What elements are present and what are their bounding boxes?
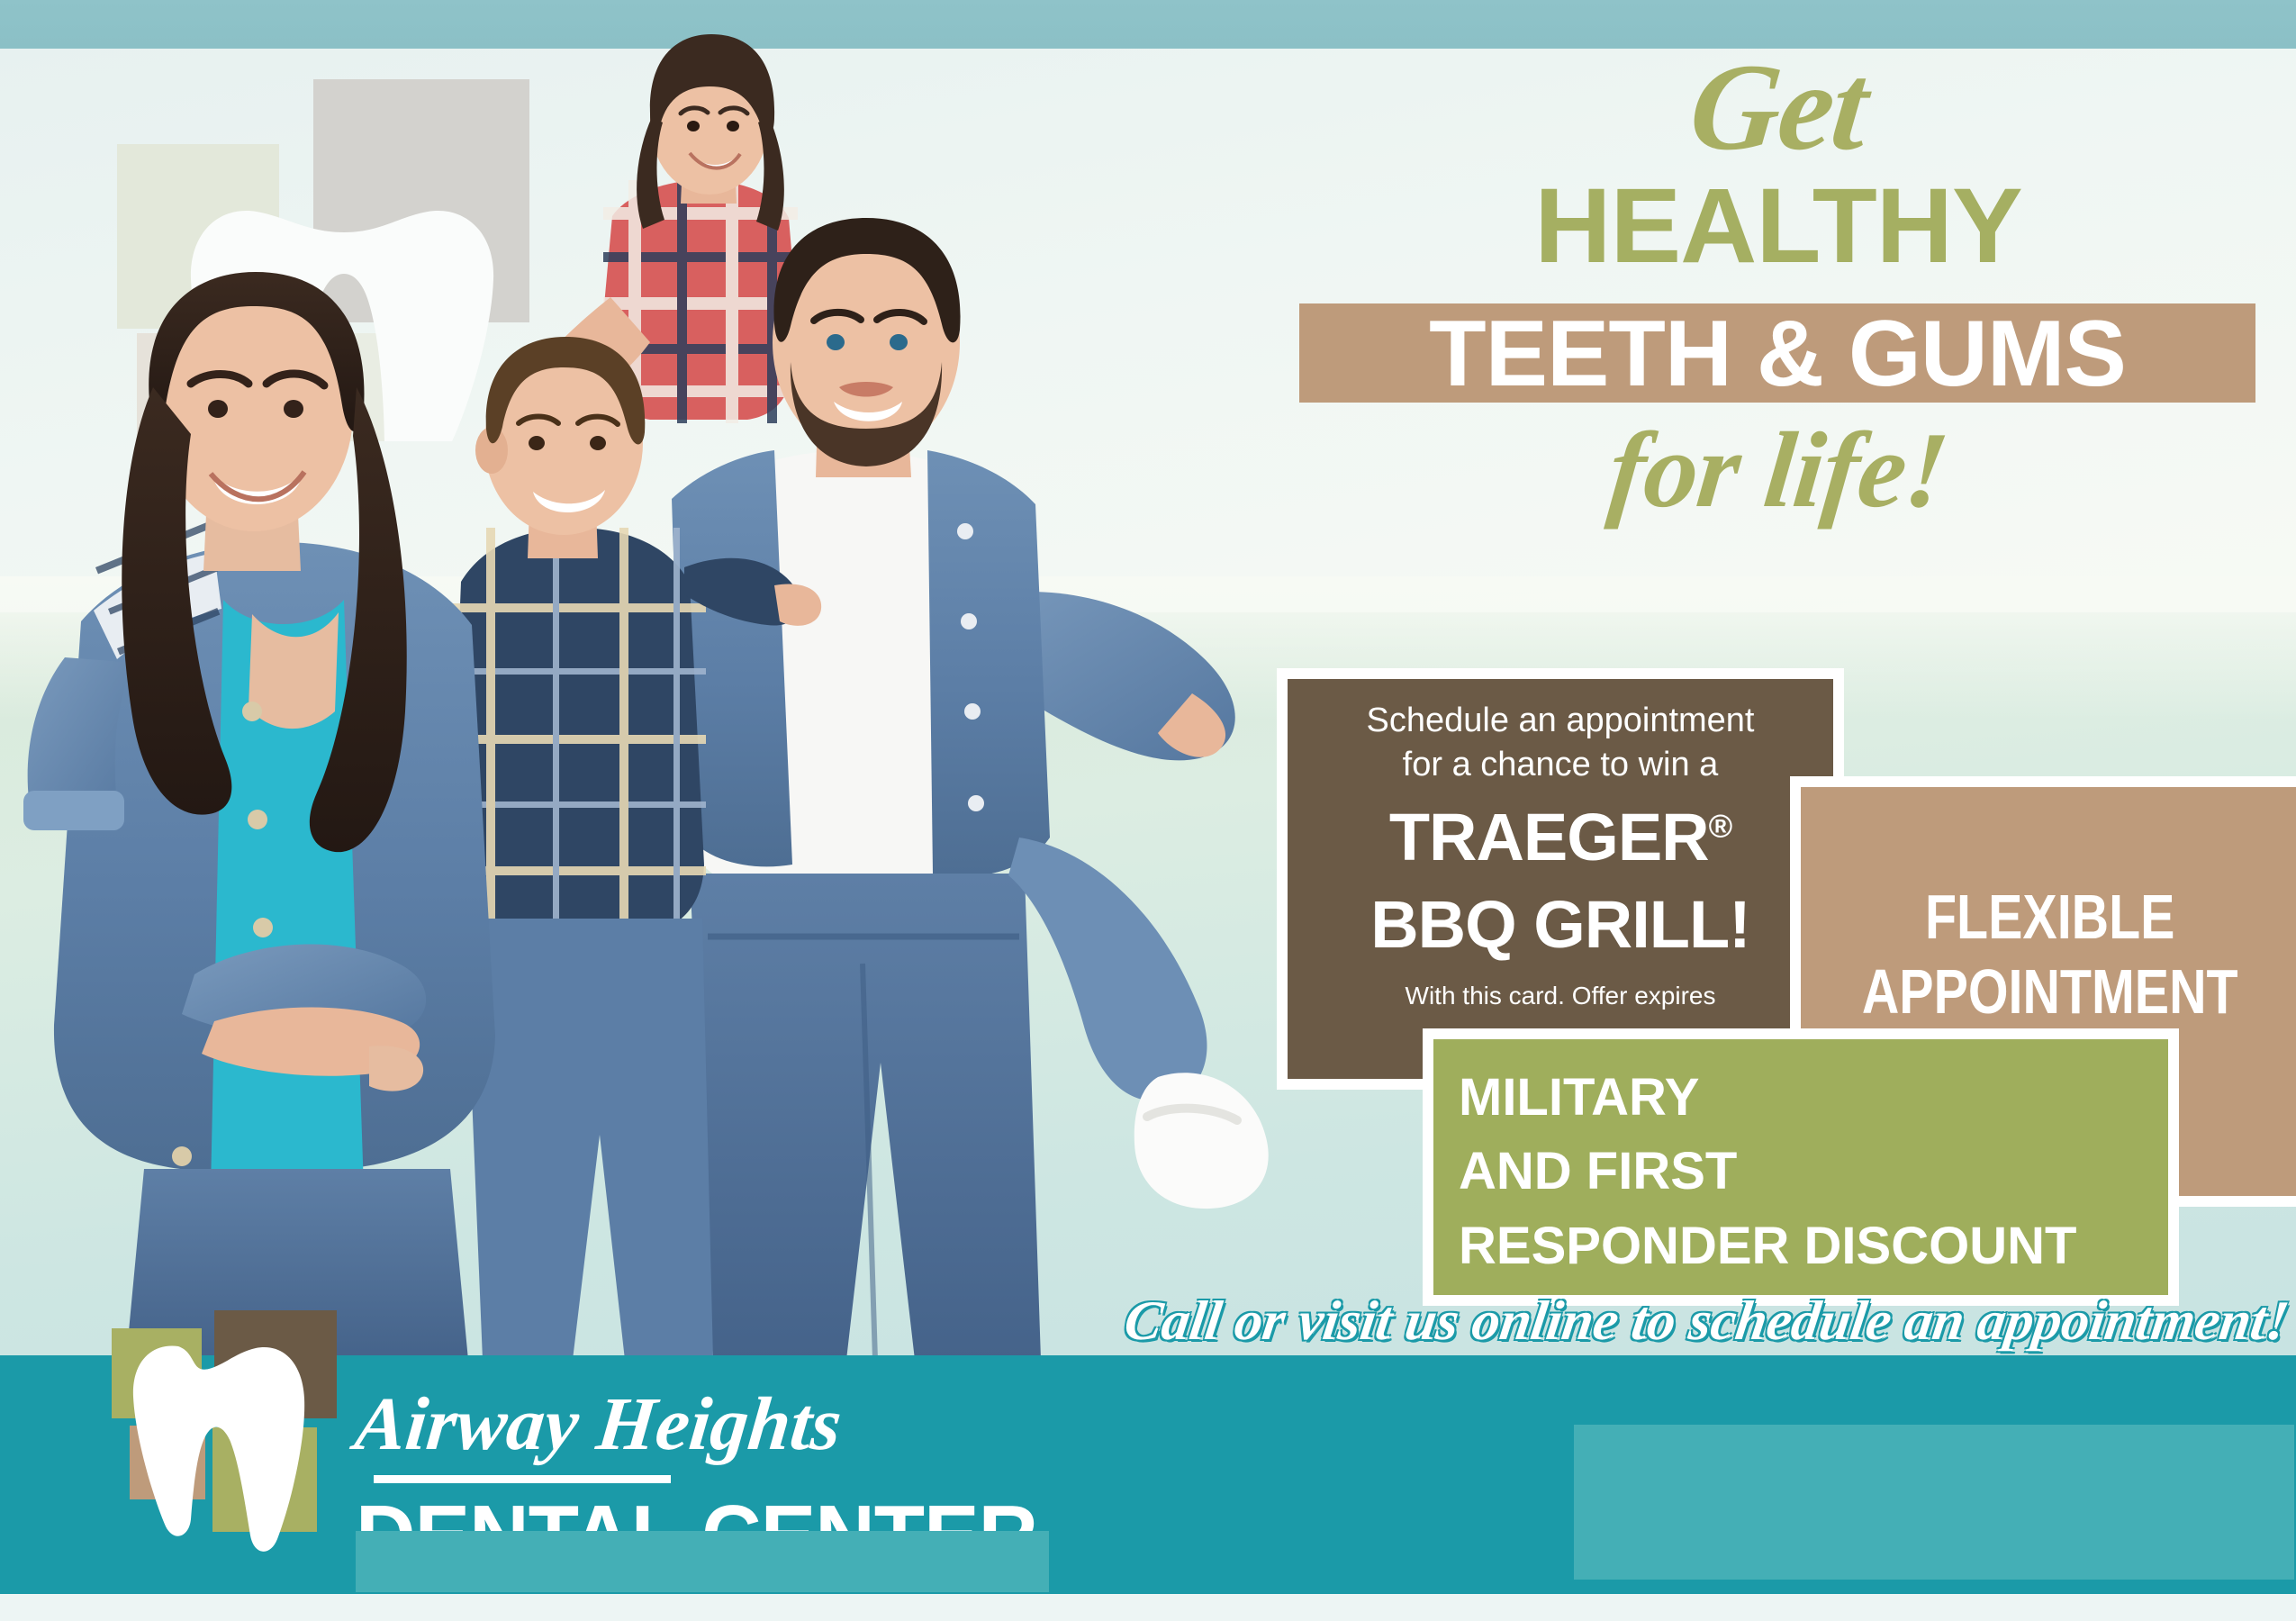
registered-trademark-icon: ®	[1709, 807, 1732, 844]
brand-bottom-strip	[356, 1531, 1049, 1592]
headline-healthy: HEALTHY	[1261, 173, 2296, 279]
military-line2: AND FIRST	[1459, 1135, 2168, 1209]
headline-block: Get HEALTHY TEETH & GUMS for life!	[1261, 45, 2296, 603]
military-line1: MILITARY	[1459, 1061, 2168, 1135]
flexible-line1: FLEXIBLE	[1862, 880, 2238, 955]
address-placeholder-block	[1574, 1425, 2294, 1580]
traeger-offer-box[interactable]: Schedule an appointment for a chance to …	[1288, 679, 1833, 1079]
adult-woman-figure	[23, 272, 495, 1360]
traeger-brand: TRAEGER®	[1389, 801, 1731, 875]
traeger-product: BBQ GRILL!	[1370, 888, 1750, 963]
headline-get: Get	[1254, 45, 2296, 169]
family-photo	[0, 27, 1297, 1360]
dental-center-logo-icon	[54, 1310, 378, 1616]
traeger-brand-word: TRAEGER	[1389, 800, 1709, 874]
military-line3: RESPONDER DISCOUNT	[1459, 1209, 2168, 1283]
brand-script-name: Airway Heights	[352, 1387, 845, 1463]
postcard-canvas: Get HEALTHY TEETH & GUMS for life! Sched…	[0, 0, 2296, 1621]
military-discount-box[interactable]: MILITARY AND FIRST RESPONDER DISCOUNT	[1433, 1039, 2168, 1295]
flexible-line2: APPOINTMENT	[1862, 955, 2238, 1029]
traeger-lead-line2: for a chance to win a	[1403, 743, 1719, 787]
child-girl-leg-and-shoe	[1008, 838, 1269, 1209]
traeger-fine-line1: With this card. Offer expires	[1406, 979, 1716, 1013]
traeger-lead-line1: Schedule an appointment	[1367, 699, 1755, 743]
call-to-action-text: Call or visit us online to schedule an a…	[1111, 1290, 2293, 1371]
headline-for-life: for life!	[1253, 405, 2296, 535]
brand-underline-rule	[374, 1475, 671, 1483]
headline-teeth-and-gums: TEETH & GUMS	[1299, 304, 2255, 403]
